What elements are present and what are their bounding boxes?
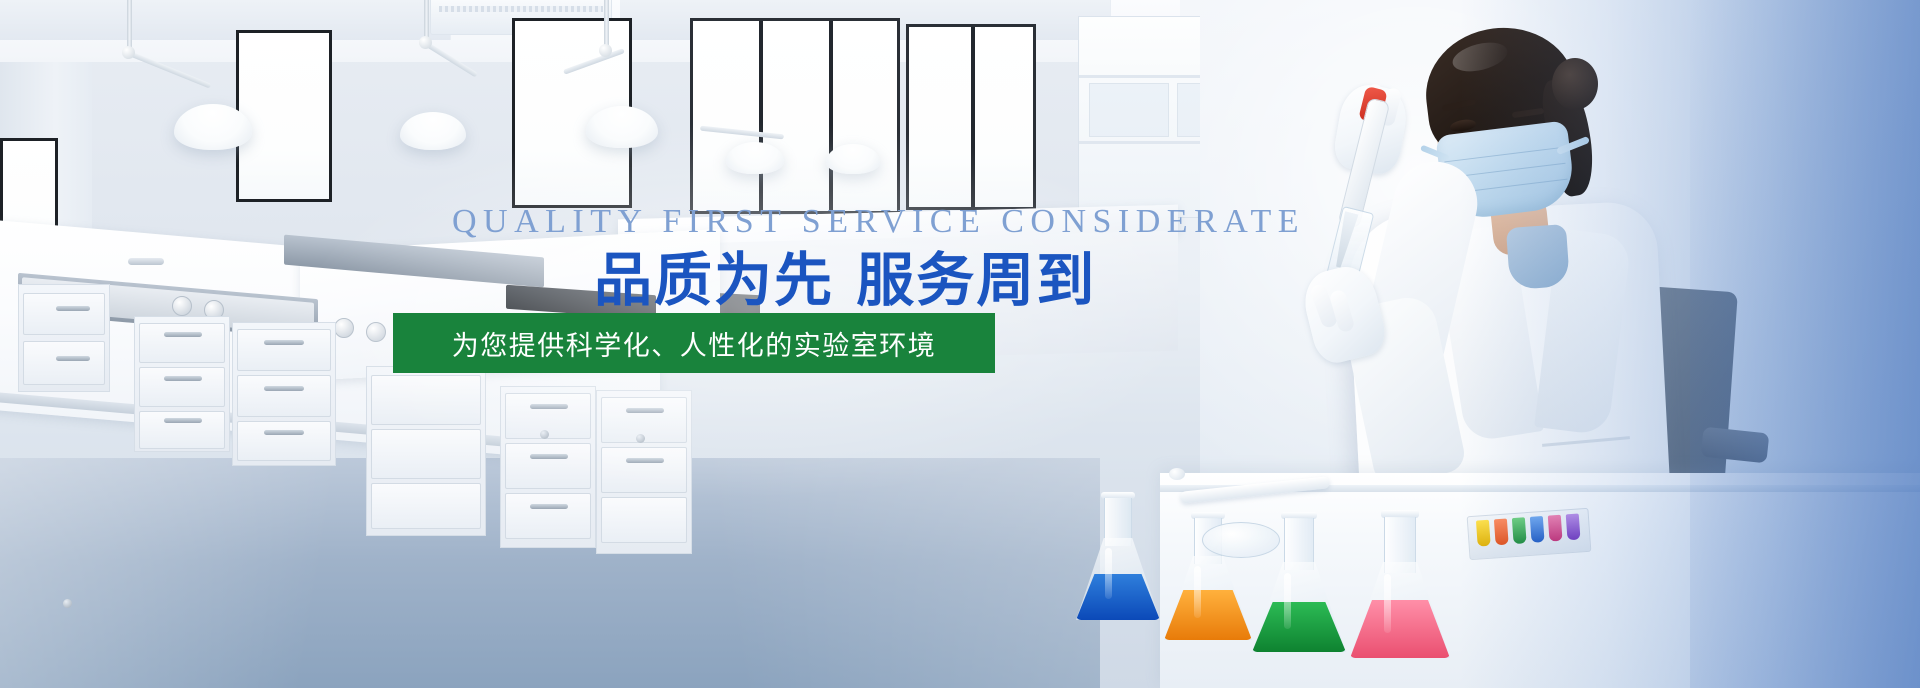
subtitle-text: 为您提供科学化、人性化的实验室环境	[452, 324, 937, 363]
english-tagline: QUALITY FIRST SERVICE CONSIDERATE	[452, 203, 1305, 241]
chinese-headline: 品质为先 服务周到	[594, 250, 1096, 311]
subtitle-green-bar: 为您提供科学化、人性化的实验室环境	[393, 313, 995, 373]
banner-text-block: QUALITY FIRST SERVICE CONSIDERATE 品质为先 服…	[0, 0, 1920, 688]
hero-banner: QUALITY FIRST SERVICE CONSIDERATE 品质为先 服…	[0, 0, 1920, 688]
